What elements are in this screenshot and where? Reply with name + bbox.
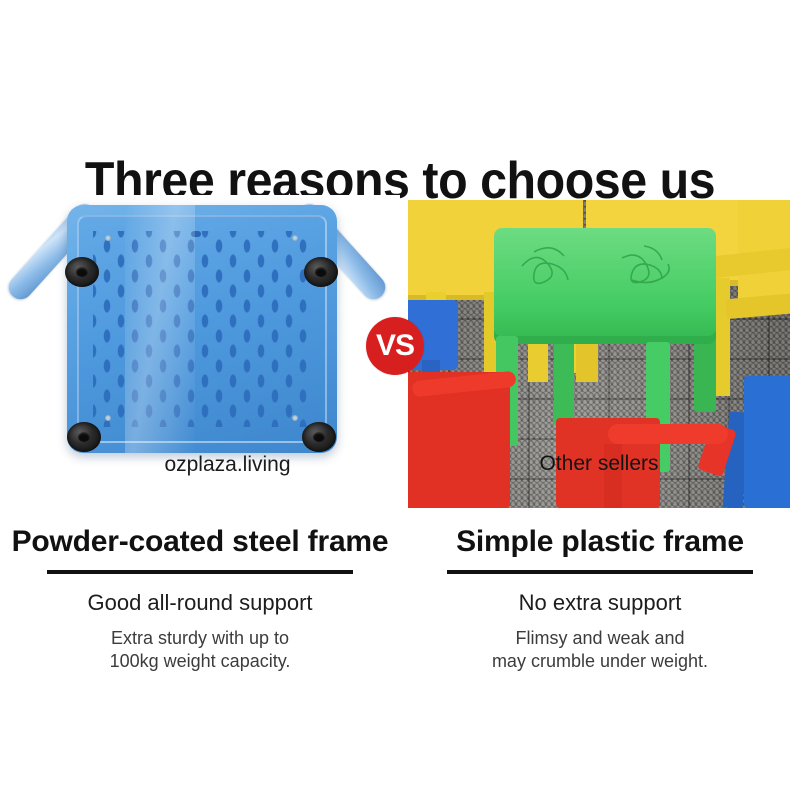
brand-watermark: ozplaza.living [55,453,400,477]
blue-chair-right [744,376,790,508]
promo-infographic: Three reasons to choose us [0,0,800,800]
right-heading-rule [447,570,753,574]
competitor-caption: Other sellers [408,452,790,476]
left-copy-column: Powder-coated steel frame Good all-round… [0,525,400,705]
right-subheading: No extra support [400,590,800,616]
left-heading: Powder-coated steel frame [0,525,400,559]
blue-table-underside-illustration [61,197,341,462]
green-table-leg-2 [554,332,574,426]
green-table-scuff-marks [504,236,704,316]
red-chair-centre-rail [608,424,728,444]
rubber-foot-top-left [65,257,99,287]
table-underside-panel [67,205,337,453]
vs-badge: VS [366,317,424,375]
comparison-media-row: ozplaza.living VS [0,195,800,515]
rubber-foot-bottom-left [67,422,101,452]
vs-badge-label: VS [376,331,414,361]
rubber-foot-top-right [304,257,338,287]
left-body-text: Extra sturdy with up to 100kg weight cap… [0,627,400,673]
screw-bottom-right [292,415,298,421]
screw-top-right [292,235,298,241]
vent-slot [191,231,201,237]
left-heading-rule [47,570,353,574]
dimple-texture-offset [93,231,311,427]
right-heading: Simple plastic frame [400,525,800,559]
left-product-image: ozplaza.living [55,195,400,510]
right-copy-column: Simple plastic frame No extra support Fl… [400,525,800,705]
screw-bottom-left [105,415,111,421]
green-table-leg-4 [694,330,716,412]
rubber-foot-bottom-right [302,422,336,452]
comparison-copy-row: Powder-coated steel frame Good all-round… [0,525,800,705]
right-competitor-image: Other sellers [408,200,790,508]
screw-top-left [105,235,111,241]
left-subheading: Good all-round support [0,590,400,616]
right-body-text: Flimsy and weak and may crumble under we… [400,627,800,673]
